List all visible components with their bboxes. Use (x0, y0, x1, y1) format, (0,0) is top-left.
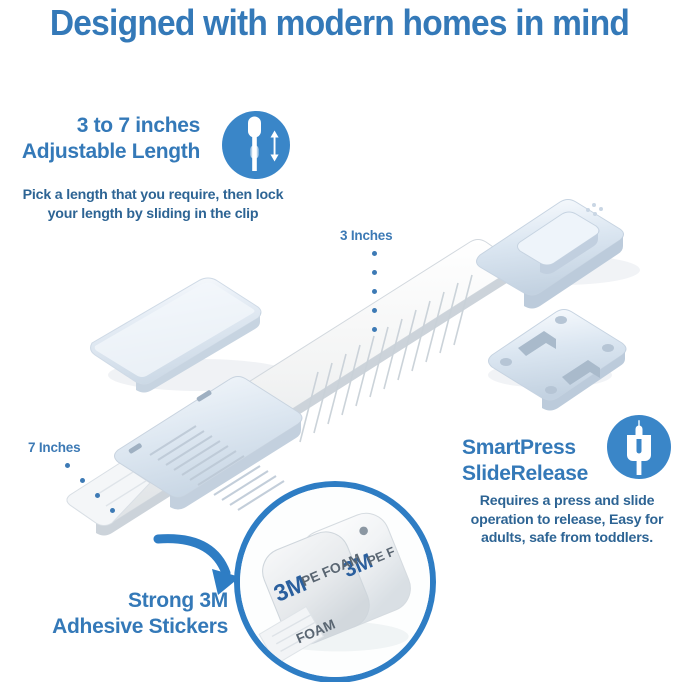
feature-heading-line1: 3 to 7 inches (0, 113, 200, 139)
feature-heading-line2: Adjustable Length (0, 139, 200, 165)
finger-press-buckle-icon (607, 415, 671, 479)
feature-heading-smartpress: SmartPress SlideRelease (462, 435, 612, 486)
lock-buckle (477, 200, 624, 309)
adjustable-strap-arrow-icon (222, 111, 290, 179)
adhesive-closeup-inset: 3M PE F 3M PE FOAM FOAM (234, 481, 436, 682)
feature-heading-line2: Adhesive Stickers (10, 614, 228, 640)
mount-pad-underside (489, 310, 627, 411)
feature-heading-line2: SlideRelease (462, 461, 612, 487)
feature-heading-adjustable-length: 3 to 7 inches Adjustable Length (0, 113, 200, 164)
feature-body-adjustable-length: Pick a length that you require, then loc… (18, 186, 288, 223)
feature-heading-line1: Strong 3M (10, 588, 228, 614)
feature-heading-line1: SmartPress (462, 435, 612, 461)
callout-label-7-inches: 7 Inches (28, 440, 80, 455)
feature-heading-adhesive: Strong 3M Adhesive Stickers (10, 588, 228, 639)
callout-label-3-inches: 3 Inches (340, 228, 392, 243)
product-infographic: Designed with modern homes in mind (0, 0, 679, 682)
feature-body-smartpress: Requires a press and slide operation to … (455, 492, 679, 548)
page-title: Designed with modern homes in mind (24, 2, 655, 44)
